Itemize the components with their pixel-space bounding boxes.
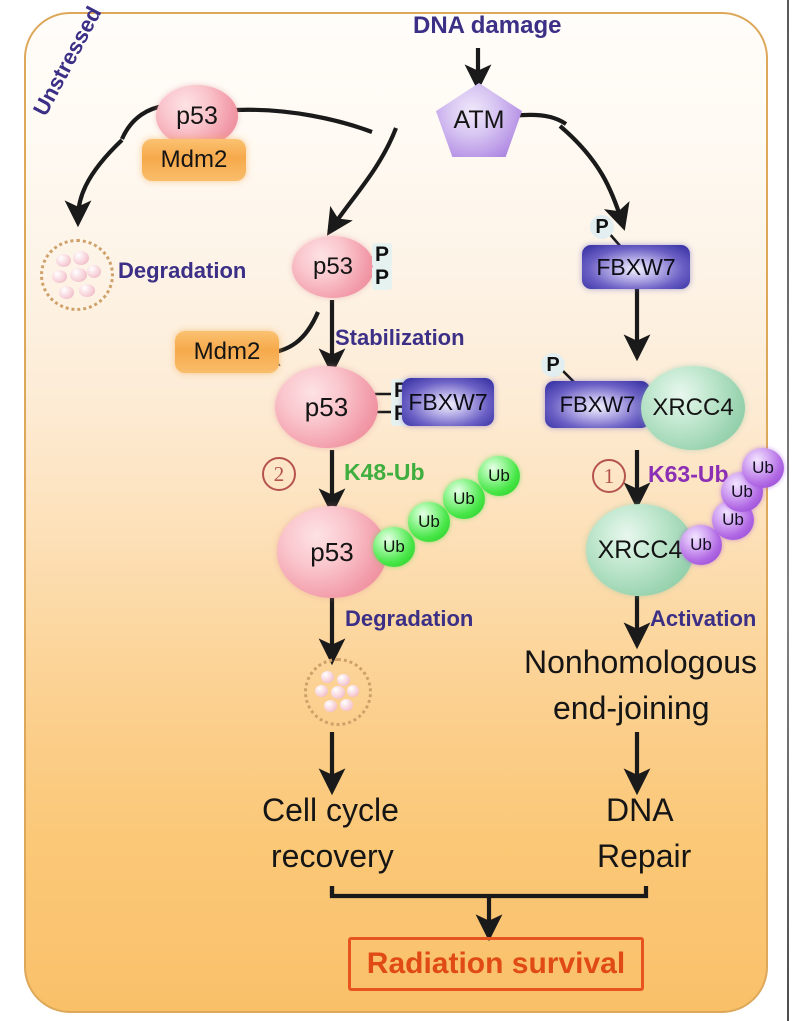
phospho-mark-icon: P bbox=[372, 243, 392, 267]
dna-repair-line1: DNA bbox=[606, 792, 674, 829]
ubiquitin-k48-1: Ub bbox=[373, 527, 415, 567]
p53-phosphorylated-node: p53 bbox=[292, 236, 374, 298]
phospho-label: P bbox=[546, 354, 559, 377]
ub-label: Ub bbox=[722, 510, 744, 530]
p53-label: p53 bbox=[310, 537, 353, 568]
fbxw7-label: FBXW7 bbox=[596, 254, 675, 281]
mdm2-label: Mdm2 bbox=[194, 338, 261, 366]
atm-label: ATM bbox=[454, 106, 505, 135]
ub-label: Ub bbox=[752, 458, 774, 478]
ub-label: Ub bbox=[453, 489, 475, 509]
ubiquitin-k48-2: Ub bbox=[408, 502, 450, 542]
p53-ubiquitinated-node: p53 bbox=[277, 506, 387, 598]
ubiquitin-k63-4: Ub bbox=[742, 448, 784, 488]
ub-label: Ub bbox=[488, 466, 510, 486]
cell-cycle-line2: recovery bbox=[271, 838, 394, 875]
nhej-line2: end-joining bbox=[553, 690, 710, 727]
ub-label: Ub bbox=[418, 512, 440, 532]
phospho-mark-icon: P bbox=[372, 266, 392, 290]
step-number-one: 1 bbox=[592, 459, 626, 493]
p53-mdm2-p53-node: p53 bbox=[156, 85, 238, 147]
mdm2-bound-node: Mdm2 bbox=[142, 139, 246, 181]
step-number-two: 2 bbox=[262, 457, 296, 491]
p53-fbxw7-p53-node: p53 bbox=[275, 366, 378, 448]
phospho-label: P bbox=[375, 266, 389, 290]
p53-label: p53 bbox=[176, 102, 218, 131]
p53-label: p53 bbox=[313, 253, 353, 281]
ub-label: Ub bbox=[383, 537, 405, 557]
xrcc4-label: XRCC4 bbox=[652, 394, 733, 422]
figure-canvas: DNA damage ATM p53 Mdm2 Unstressed Degra… bbox=[0, 0, 799, 1021]
step-two-label: 2 bbox=[274, 462, 285, 487]
mdm2-label: Mdm2 bbox=[161, 146, 228, 174]
stabilization-label: Stabilization bbox=[335, 325, 465, 351]
ubiquitin-k48-3: Ub bbox=[443, 479, 485, 519]
dna-repair-line2: Repair bbox=[597, 838, 691, 875]
radiation-survival-label: Radiation survival bbox=[367, 947, 625, 981]
k48-ub-label: K48-Ub bbox=[344, 459, 425, 486]
degradation-aggregate-mid bbox=[304, 658, 372, 726]
phospho-label: P bbox=[375, 243, 389, 267]
scan-edge-line bbox=[787, 0, 789, 1021]
fbxw7-bound-p53-node: FBXW7 bbox=[402, 378, 494, 426]
ub-label: Ub bbox=[690, 535, 712, 555]
ub-label: Ub bbox=[731, 482, 753, 502]
activation-label: Activation bbox=[650, 606, 756, 632]
step-one-label: 1 bbox=[604, 464, 615, 489]
xrcc4-ubiquitinated-node: XRCC4 bbox=[586, 504, 694, 596]
degradation-top-label: Degradation bbox=[118, 258, 246, 284]
radiation-survival-box: Radiation survival bbox=[348, 937, 644, 991]
xrcc4-label: XRCC4 bbox=[598, 536, 683, 565]
phospho-label: P bbox=[595, 216, 608, 239]
fbxw7-label: FBXW7 bbox=[408, 389, 487, 416]
xrcc4-complex-node: XRCC4 bbox=[641, 366, 745, 450]
fbxw7-phosphorylated-node: FBXW7 bbox=[582, 245, 690, 289]
cell-cycle-line1: Cell cycle bbox=[262, 792, 399, 829]
degradation-aggregate-top bbox=[40, 239, 114, 311]
p53-label: p53 bbox=[305, 392, 348, 423]
k63-ub-label: K63-Ub bbox=[648, 461, 729, 488]
mdm2-released-node: Mdm2 bbox=[175, 331, 279, 373]
fbxw7-bound-xrcc4-node: FBXW7 bbox=[545, 381, 650, 428]
phospho-mark-icon: P bbox=[541, 353, 565, 377]
nhej-line1: Nonhomologous bbox=[524, 644, 757, 681]
ubiquitin-k48-4: Ub bbox=[478, 456, 520, 496]
fbxw7-label: FBXW7 bbox=[560, 392, 636, 418]
degradation-mid-label: Degradation bbox=[345, 606, 473, 632]
phospho-mark-icon: P bbox=[590, 215, 614, 239]
dna-damage-label: DNA damage bbox=[413, 12, 561, 40]
